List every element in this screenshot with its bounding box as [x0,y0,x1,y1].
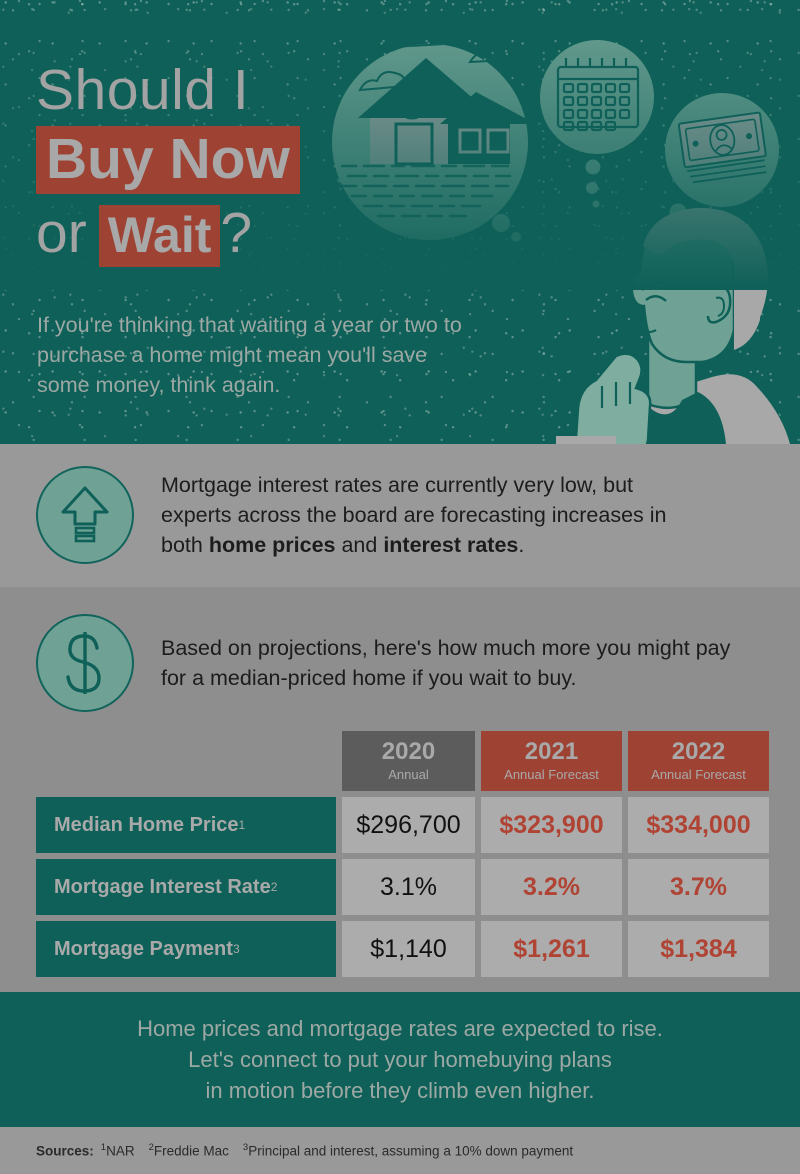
row-label-median-home-price: Median Home Price1 [36,797,336,853]
closing-message: Home prices and mortgage rates are expec… [137,1013,663,1106]
cell-0-2020: $296,700 [342,797,475,853]
cell-1-2021: 3.2% [481,859,622,915]
title-line-2: Buy Now [36,126,376,194]
table-row: Median Home Price1 $296,700 $323,900 $33… [36,797,766,853]
row-label-text-0: Median Home Price [54,814,239,837]
fact1-bold-interest-rates: interest rates [383,533,518,557]
header-note-2020: Annual [388,766,428,783]
up-arrow-icon [36,466,134,564]
fact1-text-mid: and [336,533,384,557]
closing-line-3: in motion before they climb even higher. [137,1075,663,1106]
row-label-mortgage-interest-rate: Mortgage Interest Rate2 [36,859,336,915]
table-header-spacer [36,731,336,791]
money-bubble-icon [665,93,779,207]
table-header-2022: 2022 Annual Forecast [628,731,769,791]
cell-2-2021: $1,261 [481,921,622,977]
title-question-mark: ? [220,201,252,265]
source-text-2: Freddie Mac [154,1144,229,1159]
sources-text: Sources:1NAR2Freddie Mac3Principal and i… [36,1142,573,1159]
sources-label: Sources: [36,1144,94,1159]
hero-subtitle: If you're thinking that waiting a year o… [37,310,477,400]
source-text-1: NAR [106,1144,135,1159]
thinking-person-illustration [512,208,790,444]
row-label-mortgage-payment: Mortgage Payment3 [36,921,336,977]
title-or: or [36,201,87,265]
table-header-2020: 2020 Annual [342,731,475,791]
source-text-3: Principal and interest, assuming a 10% d… [248,1144,573,1159]
closing-line-2: Let's connect to put your homebuying pla… [137,1044,663,1075]
header-note-2022: Annual Forecast [651,766,746,783]
row-footnote-0: 1 [239,818,246,832]
closing-line-1: Home prices and mortgage rates are expec… [137,1013,663,1044]
header-year-2020: 2020 [382,739,435,765]
fact-text-projection: Based on projections, here's how much mo… [161,633,761,693]
title-line-3: orWait? [36,202,376,267]
calendar-bubble-icon [540,40,654,154]
hero-section: Should I Buy Now orWait? If you're think… [0,0,800,444]
table-row: Mortgage Payment3 $1,140 $1,261 $1,384 [36,921,766,977]
title-highlight-buy-now: Buy Now [36,126,300,194]
cell-0-2021: $323,900 [481,797,622,853]
row-footnote-1: 2 [271,880,278,894]
fact1-text-post: . [518,533,524,557]
cell-0-2022: $334,000 [628,797,769,853]
header-year-2022: 2022 [672,739,725,765]
fact1-bold-home-prices: home prices [209,533,336,557]
fact2-text: Based on projections, here's how much mo… [161,636,730,690]
header-year-2021: 2021 [525,739,578,765]
dollar-sign-icon [36,614,134,712]
infographic-page: Should I Buy Now orWait? If you're think… [0,0,800,1174]
page-title: Should I Buy Now orWait? [36,60,376,267]
comparison-table: 2020 Annual 2021 Annual Forecast 2022 An… [36,731,766,983]
sources-footer: Sources:1NAR2Freddie Mac3Principal and i… [0,1127,800,1174]
fact-block-projection: Based on projections, here's how much mo… [36,614,761,712]
table-row: Mortgage Interest Rate2 3.1% 3.2% 3.7% [36,859,766,915]
closing-section: Home prices and mortgage rates are expec… [0,992,800,1127]
cell-2-2020: $1,140 [342,921,475,977]
title-line-1: Should I [36,60,376,120]
cell-2-2022: $1,384 [628,921,769,977]
cell-1-2020: 3.1% [342,859,475,915]
row-label-text-2: Mortgage Payment [54,938,233,961]
fact-text-rates: Mortgage interest rates are currently ve… [161,470,681,560]
fact-block-rates: Mortgage interest rates are currently ve… [36,466,681,564]
cell-1-2022: 3.7% [628,859,769,915]
header-note-2021: Annual Forecast [504,766,599,783]
row-footnote-2: 3 [233,942,240,956]
table-header-row: 2020 Annual 2021 Annual Forecast 2022 An… [36,731,766,791]
table-header-2021: 2021 Annual Forecast [481,731,622,791]
title-highlight-wait: Wait [99,205,221,267]
row-label-text-1: Mortgage Interest Rate [54,876,271,899]
